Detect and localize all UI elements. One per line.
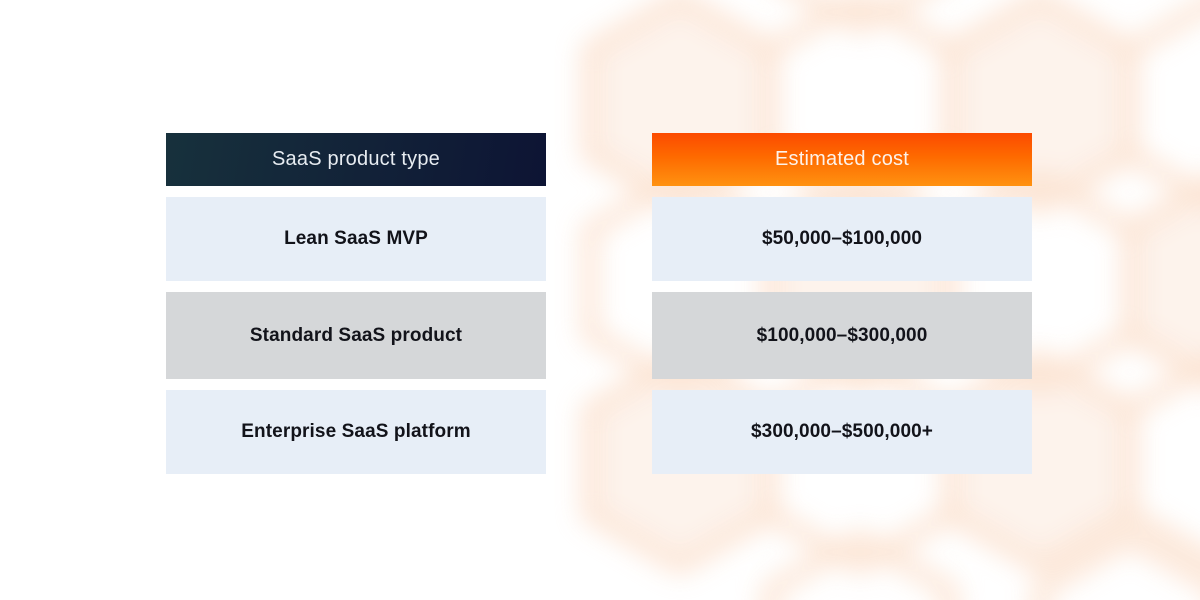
cell-estimated-cost: $50,000–$100,000 <box>652 197 1032 281</box>
table-row: Standard SaaS product $100,000–$300,000 <box>166 292 1032 379</box>
cell-product-type: Enterprise SaaS platform <box>166 390 546 474</box>
table-header-row: SaaS product type Estimated cost <box>166 133 1032 186</box>
cell-product-type: Lean SaaS MVP <box>166 197 546 281</box>
cell-estimated-cost: $300,000–$500,000+ <box>652 390 1032 474</box>
cell-product-type: Standard SaaS product <box>166 292 546 379</box>
column-header-product-type: SaaS product type <box>166 133 546 186</box>
cell-estimated-cost: $100,000–$300,000 <box>652 292 1032 379</box>
column-header-estimated-cost: Estimated cost <box>652 133 1032 186</box>
comparison-table: SaaS product type Estimated cost Lean Sa… <box>166 133 1032 474</box>
table-row: Lean SaaS MVP $50,000–$100,000 <box>166 197 1032 281</box>
table-row: Enterprise SaaS platform $300,000–$500,0… <box>166 390 1032 474</box>
